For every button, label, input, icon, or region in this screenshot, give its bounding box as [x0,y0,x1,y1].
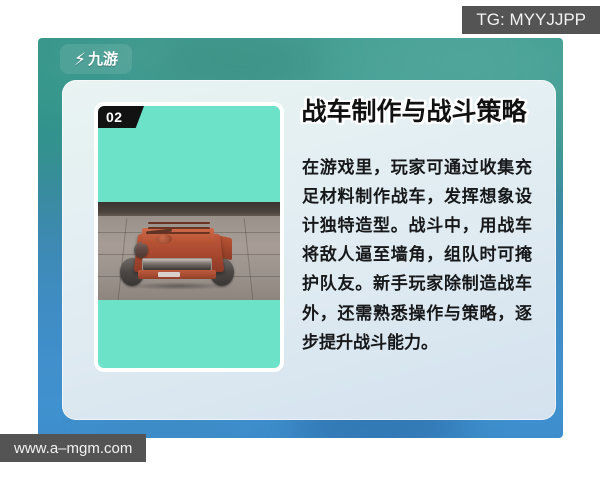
lightning-bolt-icon: ⚡ [74,51,86,68]
promo-card: ⚡ 九游 02 [38,38,563,438]
step-number-label: 02 [106,110,123,124]
ninegame-logo[interactable]: ⚡ 九游 [60,44,132,74]
logo-brand-text: 九游 [88,52,118,67]
vehicle-wheel-rear [134,242,148,258]
vehicle-turret [156,234,172,244]
article-body-text: 在游戏里，玩家可通过收集充足材料制作战车，发挥想象设计独特造型。战斗中，用战车将… [302,154,532,359]
vehicle-roll-cage [148,222,210,236]
article-image-block[interactable]: 02 [94,102,284,372]
step-number-badge: 02 [98,106,144,128]
content-panel: 02 [62,80,556,420]
telegram-watermark: TG: MYYJJPP [462,6,600,34]
website-watermark: www.a–mgm.com [0,434,146,462]
battle-car-photo [98,202,280,300]
article-text-column: 战车制作与战斗策略 在游戏里，玩家可通过收集充足材料制作战车，发挥想象设计独特造… [302,98,532,358]
article-title: 战车制作与战斗策略 [296,98,532,126]
vehicle-plate [158,272,180,277]
